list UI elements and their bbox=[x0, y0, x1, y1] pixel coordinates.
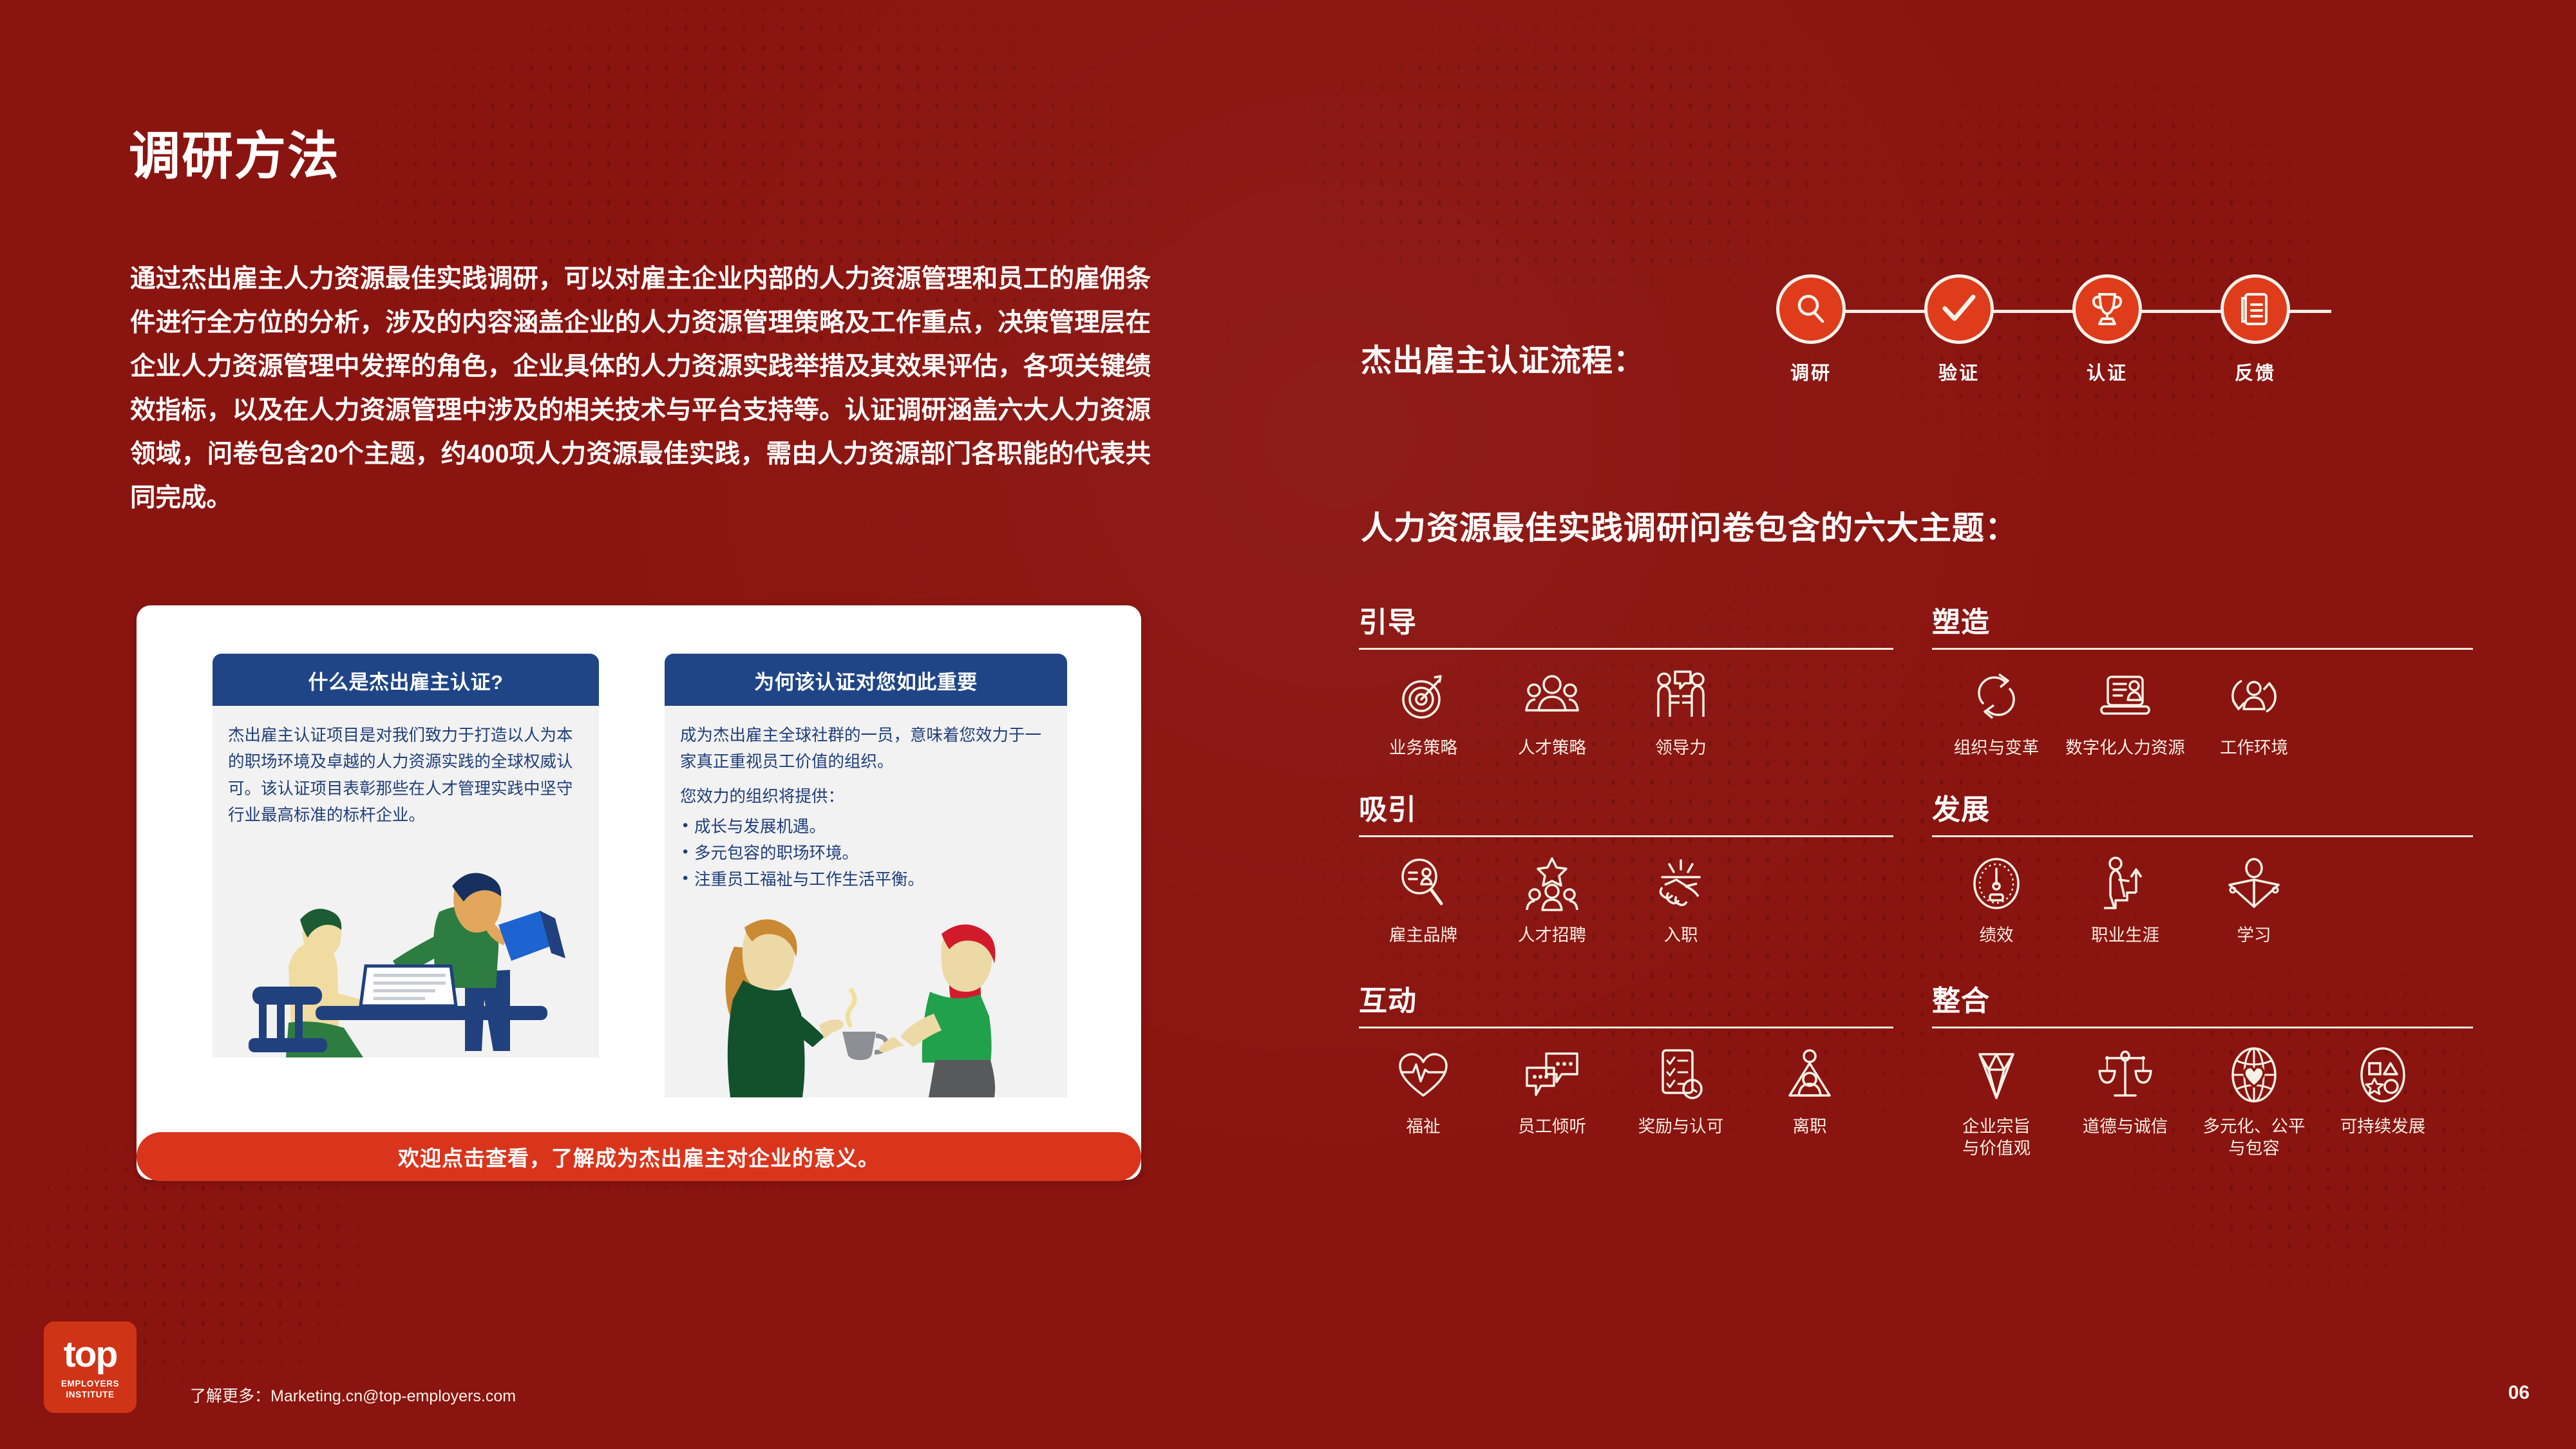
checkmark-icon bbox=[1924, 274, 1994, 344]
person-reading-icon bbox=[2190, 854, 2318, 913]
document-icon bbox=[2221, 274, 2290, 344]
cta-label: 欢迎点击查看，了解成为杰出雇主对企业的意义。 bbox=[398, 1141, 880, 1172]
theme-item-label: 数字化人力资源 bbox=[2061, 737, 2190, 759]
panel-header-left: 什么是杰出雇主认证? bbox=[213, 654, 599, 706]
person-stairs-icon bbox=[2061, 854, 2190, 913]
theme-item-work-environment[interactable]: 工作环境 bbox=[2190, 667, 2318, 759]
heart-pulse-icon bbox=[1359, 1045, 1488, 1104]
theme-block-unite: 整合 bbox=[1932, 947, 2512, 1160]
process-step-label: 调研 bbox=[1759, 358, 1862, 385]
theme-block-develop: 发展 绩效 bbox=[1932, 759, 2512, 947]
theme-item-label: 奖励与认可 bbox=[1616, 1116, 1745, 1138]
gauge-icon bbox=[1932, 854, 2061, 913]
theme-name: 吸引 bbox=[1359, 786, 1893, 828]
benefits-list: 成长与发展机遇。 多元包容的职场环境。 注重员工福祉与工作生活平衡。 bbox=[680, 814, 1052, 894]
theme-block-shape: 塑造 组织与变革 bbox=[1932, 599, 2512, 759]
manager-and-employee-at-desk-illustration bbox=[213, 850, 599, 1057]
theme-item-label: 入职 bbox=[1616, 925, 1745, 947]
theme-item-performance[interactable]: 绩效 bbox=[1932, 854, 2061, 947]
panel-body-left: 杰出雇主认证项目是对我们致力于打造以人为本的职场环境及卓越的人力资源实践的全球权… bbox=[213, 706, 599, 850]
process-step-4[interactable]: 反馈 bbox=[2204, 253, 2307, 385]
theme-item-label: 业务策略 bbox=[1359, 737, 1488, 759]
theme-divider bbox=[1932, 835, 2473, 837]
refresh-cycle-icon bbox=[1932, 667, 2061, 726]
theme-item-digital-hr[interactable]: 数字化人力资源 bbox=[2061, 667, 2190, 759]
theme-block-attract: 吸引 雇主品牌 bbox=[1359, 759, 1932, 947]
theme-divider bbox=[1932, 1027, 2473, 1028]
info-card: 什么是杰出雇主认证? 杰出雇主认证项目是对我们致力于打造以人为本的职场环境及卓越… bbox=[137, 605, 1141, 1180]
theme-item-recruitment[interactable]: 人才招聘 bbox=[1488, 854, 1616, 947]
person-exit-icon bbox=[1745, 1045, 1874, 1104]
theme-name: 发展 bbox=[1932, 786, 2473, 828]
process-step-label: 验证 bbox=[1908, 358, 2011, 385]
theme-item-label: 离职 bbox=[1745, 1116, 1874, 1138]
theme-item-label: 绩效 bbox=[1932, 925, 2061, 947]
cta-bar[interactable]: 欢迎点击查看，了解成为杰出雇主对企业的意义。 bbox=[137, 1132, 1141, 1181]
theme-item-sustainability[interactable]: 可持续发展 bbox=[2318, 1045, 2447, 1160]
theme-item-label: 职业生涯 bbox=[2061, 925, 2190, 947]
people-group-icon bbox=[1488, 667, 1616, 726]
magnifier-icon bbox=[1776, 274, 1846, 344]
theme-item-learning[interactable]: 学习 bbox=[2190, 854, 2318, 947]
target-arrow-icon bbox=[1359, 667, 1488, 726]
theme-item-organisation-change[interactable]: 组织与变革 bbox=[1932, 667, 2061, 759]
chat-bubbles-icon bbox=[1488, 1045, 1616, 1104]
theme-item-purpose-values[interactable]: 企业宗旨与价值观 bbox=[1932, 1045, 2061, 1160]
list-item: 多元包容的职场环境。 bbox=[680, 840, 1052, 867]
globe-heart-icon bbox=[2190, 1045, 2318, 1104]
theme-item-label: 人才策略 bbox=[1488, 737, 1616, 759]
intro-paragraph: 通过杰出雇主人力资源最佳实践调研，可以对雇主企业内部的人力资源管理和员工的雇佣条… bbox=[130, 258, 1151, 520]
logo-wordmark: top bbox=[44, 1321, 137, 1373]
theme-item-onboarding[interactable]: 入职 bbox=[1616, 854, 1745, 947]
theme-name: 互动 bbox=[1359, 978, 1893, 1019]
logo-line-1: EMPLOYERS bbox=[44, 1379, 137, 1388]
top-employers-institute-logo: top EMPLOYERS INSTITUTE bbox=[44, 1321, 137, 1413]
person-arrows-icon bbox=[2190, 667, 2318, 726]
panel-right-sublead: 您效力的组织将提供： bbox=[680, 784, 1052, 810]
shapes-circle-icon bbox=[2318, 1045, 2447, 1104]
page-title: 调研方法 bbox=[129, 115, 340, 189]
theme-item-wellbeing[interactable]: 福祉 bbox=[1359, 1045, 1488, 1138]
theme-item-business-strategy[interactable]: 业务策略 bbox=[1359, 667, 1488, 759]
six-themes-grid: 引导 业务策略 bbox=[1359, 599, 2512, 1160]
two-people-talking-icon bbox=[1616, 667, 1745, 726]
theme-item-label: 人才招聘 bbox=[1488, 925, 1616, 947]
theme-item-reward-recognition[interactable]: 奖励与认可 bbox=[1616, 1045, 1745, 1138]
logo-line-2: INSTITUTE bbox=[44, 1390, 137, 1399]
why-certification-matters-panel: 为何该认证对您如此重要 成为杰出雇主全球社群的一员，意味着您效力于一家真正重视员… bbox=[665, 654, 1067, 904]
theme-name: 塑造 bbox=[1932, 599, 2473, 640]
theme-divider bbox=[1359, 1027, 1893, 1028]
theme-item-diversity-equity-inclusion[interactable]: 多元化、公平与包容 bbox=[2190, 1045, 2318, 1160]
page-number: 06 bbox=[2508, 1382, 2530, 1404]
theme-item-label: 员工倾听 bbox=[1488, 1116, 1616, 1138]
theme-item-label: 组织与变革 bbox=[1932, 737, 2061, 759]
process-step-3[interactable]: 认证 bbox=[2056, 253, 2159, 385]
theme-item-label: 学习 bbox=[2190, 925, 2318, 947]
laptop-profile-icon bbox=[2061, 667, 2190, 726]
theme-item-label: 多元化、公平与包容 bbox=[2190, 1116, 2318, 1160]
theme-item-offboarding[interactable]: 离职 bbox=[1745, 1045, 1874, 1138]
theme-item-leadership[interactable]: 领导力 bbox=[1616, 667, 1745, 759]
themes-title: 人力资源最佳实践调研问卷包含的六大主题： bbox=[1361, 502, 2018, 549]
list-item: 成长与发展机遇。 bbox=[680, 814, 1052, 840]
list-item: 注重员工福祉与工作生活平衡。 bbox=[680, 867, 1052, 893]
contact-email[interactable]: 了解更多：Marketing.cn@top-employers.com bbox=[190, 1383, 516, 1406]
panel-left-text: 杰出雇主认证项目是对我们致力于打造以人为本的职场环境及卓越的人力资源实践的全球权… bbox=[228, 723, 583, 829]
theme-block-guide: 引导 业务策略 bbox=[1359, 599, 1932, 759]
theme-item-ethics-integrity[interactable]: 道德与诚信 bbox=[2061, 1045, 2190, 1160]
magnifier-profile-icon bbox=[1359, 854, 1488, 913]
handshake-icon bbox=[1616, 854, 1745, 913]
diamond-icon bbox=[1932, 1045, 2061, 1104]
theme-name: 整合 bbox=[1932, 978, 2473, 1019]
what-is-certification-panel: 什么是杰出雇主认证? 杰出雇主认证项目是对我们致力于打造以人为本的职场环境及卓越… bbox=[213, 654, 599, 850]
theme-item-label: 领导力 bbox=[1616, 737, 1745, 759]
panel-header-right: 为何该认证对您如此重要 bbox=[665, 654, 1067, 706]
star-group-icon bbox=[1488, 854, 1616, 913]
process-step-label: 认证 bbox=[2056, 358, 2159, 385]
panel-right-lead: 成为杰出雇主全球社群的一员，意味着您效力于一家真正重视员工价值的组织。 bbox=[680, 723, 1052, 776]
process-step-label: 反馈 bbox=[2204, 358, 2307, 385]
slide-root: 调研方法 通过杰出雇主人力资源最佳实践调研，可以对雇主企业内部的人力资源管理和员… bbox=[0, 0, 2576, 1449]
theme-name: 引导 bbox=[1359, 599, 1893, 640]
theme-item-talent-strategy[interactable]: 人才策略 bbox=[1488, 667, 1616, 759]
theme-item-label: 雇主品牌 bbox=[1359, 925, 1488, 947]
theme-item-label: 工作环境 bbox=[2190, 737, 2318, 759]
process-step-1[interactable]: 调研 bbox=[1759, 253, 1862, 385]
theme-item-label: 企业宗旨与价值观 bbox=[1932, 1116, 2061, 1160]
theme-item-employee-listening[interactable]: 员工倾听 bbox=[1488, 1045, 1616, 1138]
checklist-clock-icon bbox=[1616, 1045, 1745, 1104]
theme-item-label: 道德与诚信 bbox=[2061, 1116, 2190, 1138]
theme-divider bbox=[1359, 835, 1893, 837]
scales-icon bbox=[2061, 1045, 2190, 1104]
panel-body-right: 成为杰出雇主全球社群的一员，意味着您效力于一家真正重视员工价值的组织。 您效力的… bbox=[665, 706, 1067, 904]
theme-block-engage: 互动 福祉 bbox=[1359, 947, 1932, 1160]
theme-item-career[interactable]: 职业生涯 bbox=[2061, 854, 2190, 947]
two-women-with-coffee-illustration bbox=[665, 904, 1067, 1097]
theme-divider bbox=[1359, 648, 1893, 650]
process-title: 杰出雇主认证流程： bbox=[1361, 335, 1645, 380]
trophy-icon bbox=[2072, 274, 2142, 344]
certification-process-flow: 调研 验证 认证 bbox=[1739, 253, 2402, 401]
theme-item-employer-brand[interactable]: 雇主品牌 bbox=[1359, 854, 1488, 947]
theme-item-label: 可持续发展 bbox=[2318, 1116, 2447, 1138]
process-step-2[interactable]: 验证 bbox=[1908, 253, 2011, 385]
theme-item-label: 福祉 bbox=[1359, 1116, 1488, 1138]
theme-divider bbox=[1932, 648, 2473, 650]
